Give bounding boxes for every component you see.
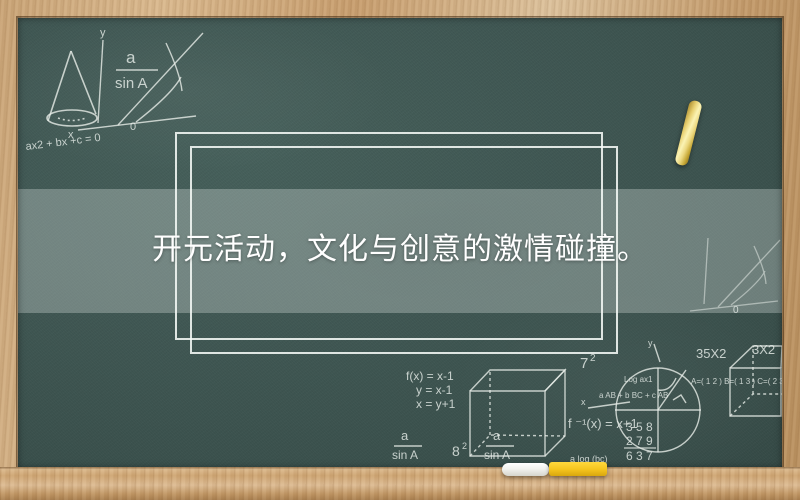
chalkboard-poster: a sin A y x 0 ax2 + bx +c = 0: [0, 0, 800, 500]
chalk-white-on-ledge: [502, 463, 549, 476]
chalk-ledge: [0, 467, 800, 500]
frame-inner-shadow: [17, 17, 783, 469]
chalk-yellow-on-ledge: [549, 462, 607, 476]
ledge-grain-texture: [0, 467, 800, 500]
ledge-top-edge: [0, 467, 800, 470]
